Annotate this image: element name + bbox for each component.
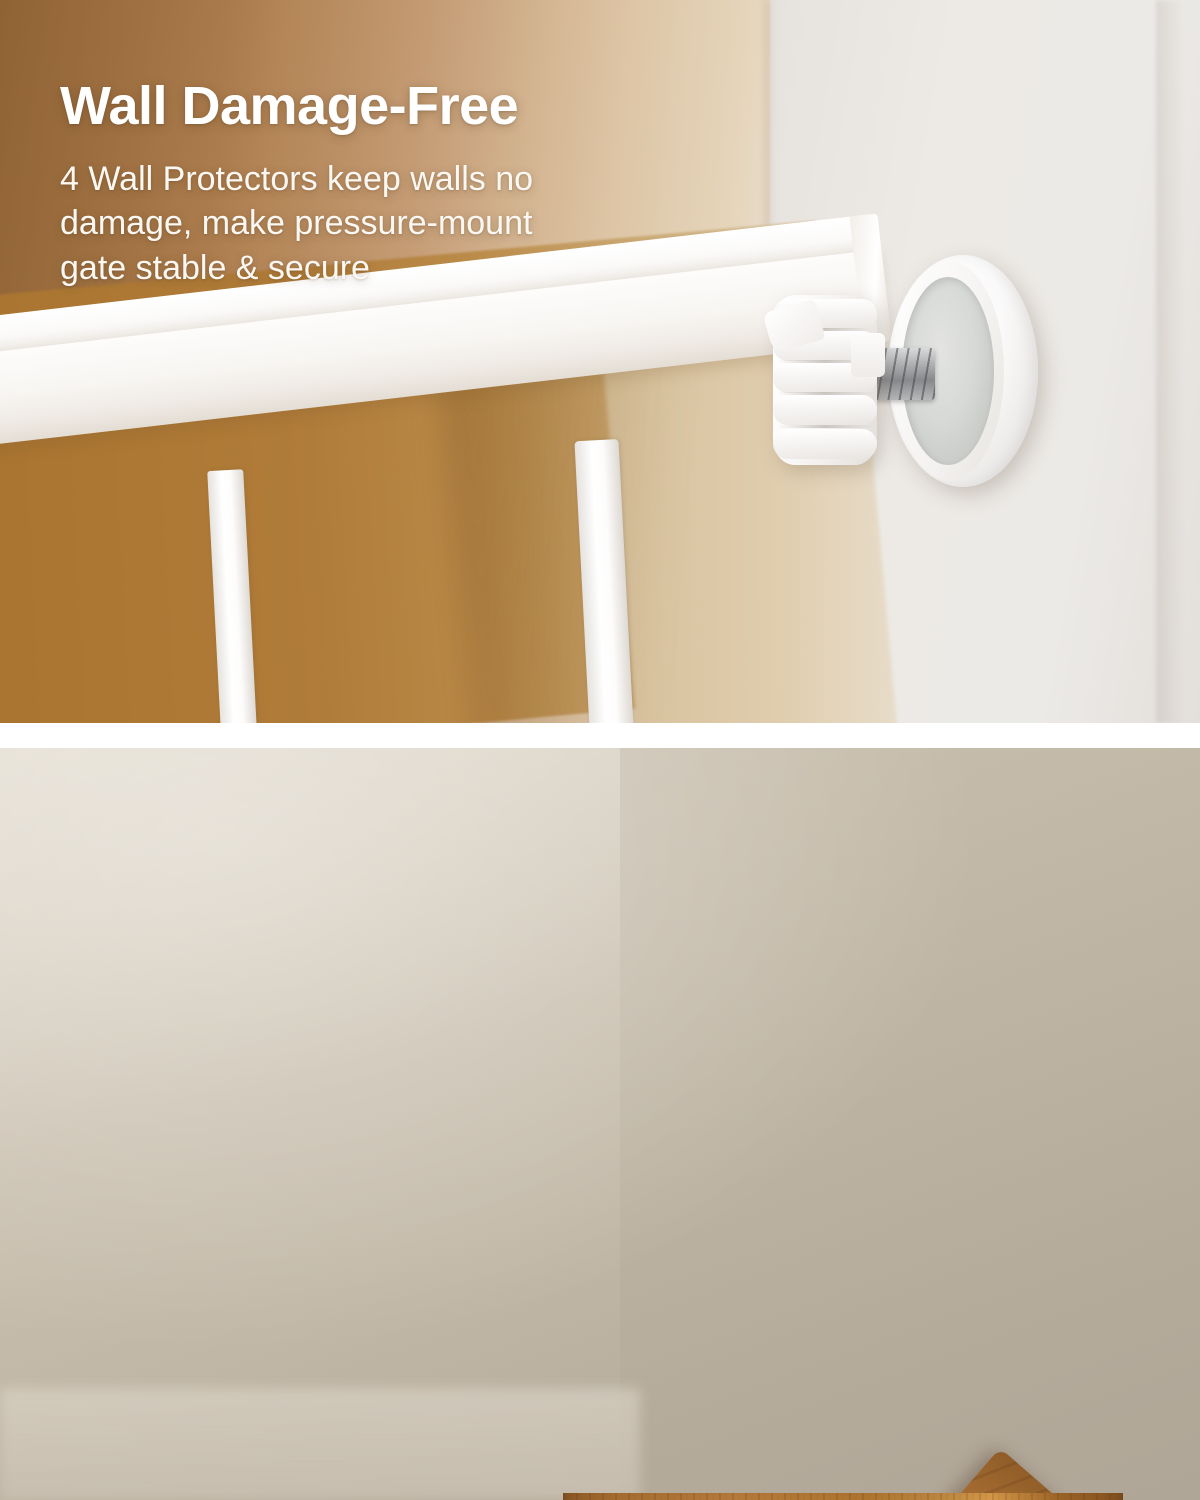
top-panel-body-copy: 4 Wall Protectors keep walls no damage, … [60, 157, 780, 291]
panel-divider [0, 723, 1200, 748]
knob-neck [851, 333, 885, 377]
body-line: gate stable & secure [60, 246, 780, 291]
wall-far-edge [1156, 0, 1200, 723]
wall-protector-assembly [755, 255, 1055, 500]
thumb-knob [773, 295, 877, 465]
page-title-wall-damage-free: Wall Damage-Free [60, 78, 780, 135]
feature-panel-versatile-y-shape-design: Versatile Y Shape Design 2 Free Y-spindl… [0, 748, 1200, 1500]
body-line: 4 Wall Protectors keep walls no [60, 157, 780, 202]
feature-panel-wall-damage-free: Wall Damage-Free 4 Wall Protectors keep … [0, 0, 1200, 723]
body-line: damage, make pressure-mount [60, 201, 780, 246]
newel-post-shaft-grain [563, 1493, 1123, 1500]
infographic-sheet: Wall Damage-Free 4 Wall Protectors keep … [0, 0, 1200, 1500]
bottom-floor-wash [0, 1388, 640, 1500]
top-panel-text-block: Wall Damage-Free 4 Wall Protectors keep … [60, 78, 780, 290]
